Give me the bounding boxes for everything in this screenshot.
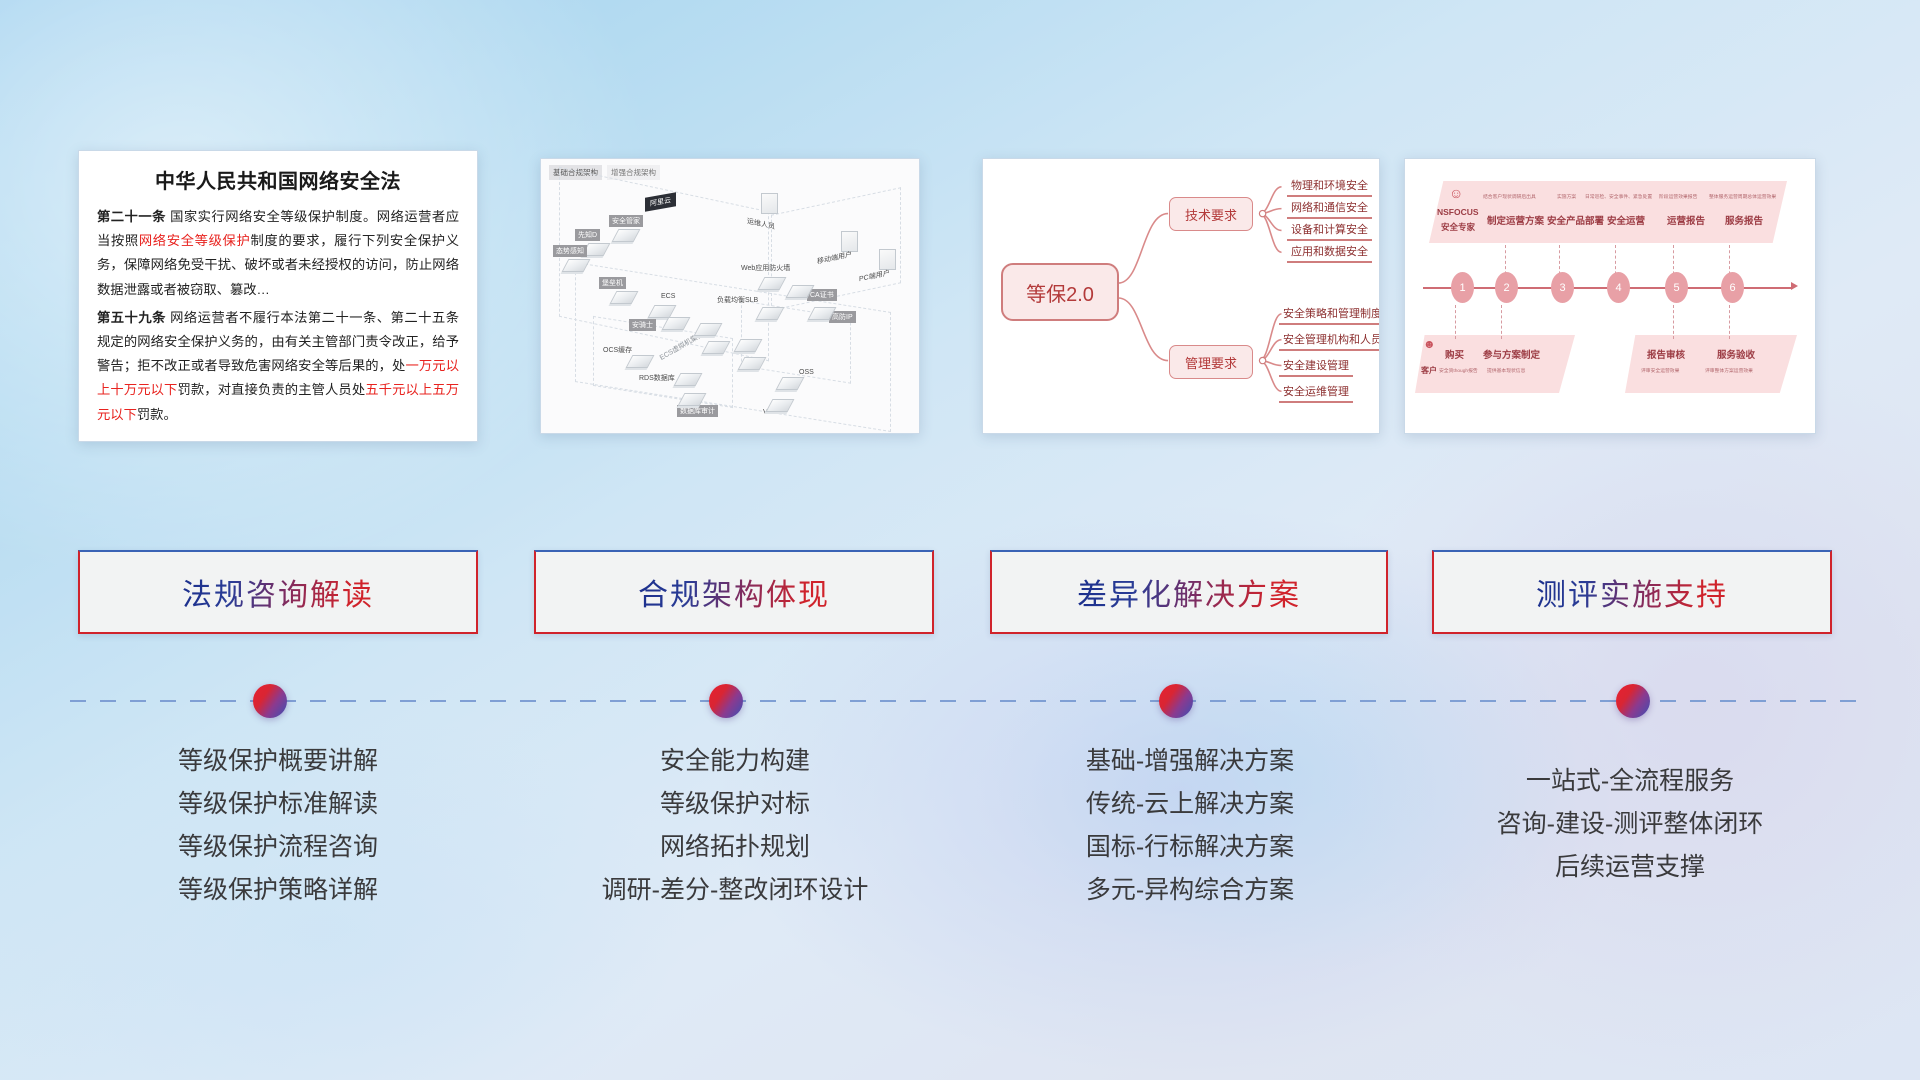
mindmap-leaf-app-data: 应用和数据安全: [1287, 243, 1372, 263]
connector-customer-5: [1673, 305, 1674, 339]
detail-column-2: 安全能力构建 等级保护对标 网络拓扑规划 调研-差分-整改闭环设计: [500, 740, 970, 912]
timeline-canvas: ☺ NSFOCUS 安全专家 结合客户现状调研后出具 制定运营方案 实施方案 安…: [1405, 159, 1815, 433]
law-title: 中华人民共和国网络安全法: [97, 165, 459, 194]
header-box-differentiated-solution[interactable]: 差异化解决方案: [990, 550, 1388, 634]
slide-stage: 中华人民共和国网络安全法 第二十一条 国家实行网络安全等级保护制度。网络运营者应…: [0, 0, 1920, 1080]
timeline-node-6[interactable]: 6: [1721, 272, 1744, 303]
arch-label-ca: CA证书: [807, 289, 837, 301]
list-item: 等级保护流程咨询: [78, 826, 478, 869]
progress-timeline-track: [70, 700, 1860, 702]
cards-row: 中华人民共和国网络安全法 第二十一条 国家实行网络安全等级保护制度。网络运营者应…: [0, 150, 1920, 450]
header-box-regulation-consulting[interactable]: 法规咨询解读: [78, 550, 478, 634]
expert-role-label: 安全专家: [1441, 221, 1475, 233]
mindmap-branch-management: 管理要求: [1169, 345, 1253, 379]
arch-node-slb: [759, 307, 781, 320]
timeline-arrow-icon: [1791, 282, 1798, 290]
card-architecture-diagram[interactable]: 基础合规架构 增强合规架构 阿里云 安全管家 先知D 态势感知 堡垒机: [540, 158, 920, 434]
arch-node-ecs-a: [697, 323, 719, 336]
timeline-node-3[interactable]: 3: [1551, 272, 1574, 303]
arch-node-situation-awareness: [565, 259, 587, 272]
law-article-21: 第二十一条 国家实行网络安全等级保护制度。网络运营者应当按照网络安全等级保护制度…: [97, 205, 459, 302]
mindmap-leaf-ops-mgmt: 安全运维管理: [1279, 383, 1353, 403]
law-article-59-label: 第五十九条: [97, 310, 166, 325]
mindmap-leaf-policy-system: 安全策略和管理制度: [1279, 305, 1380, 325]
architecture-canvas: 基础合规架构 增强合规架构 阿里云 安全管家 先知D 态势感知 堡垒机: [541, 159, 919, 433]
arch-label-db-audit: 数据库审计: [677, 405, 718, 417]
list-item: 咨询-建设-测评整体闭环: [1430, 803, 1830, 846]
customer-step-3-subtitle: 评审安全运营效果: [1641, 367, 1679, 374]
timeline-node-2[interactable]: 2: [1495, 272, 1518, 303]
header-label-2: 合规架构体现: [638, 570, 830, 614]
arch-node-db-audit: [681, 393, 703, 406]
law-article-59: 第五十九条 网络运营者不履行本法第二十一条、第二十五条规定的网络安全保护义务的，…: [97, 306, 459, 427]
arch-node-pc-user: [879, 249, 896, 270]
step-2-subtitle: 结合客户现状调研后出具: [1483, 193, 1536, 200]
step-5-title: 运营报告: [1667, 213, 1705, 227]
list-item: 调研-差分-整改闭环设计: [500, 869, 970, 912]
detail-column-4: 一站式-全流程服务 咨询-建设-测评整体闭环 后续运营支撑: [1430, 760, 1830, 889]
step-5-subtitle: 阶段运营效果报告: [1659, 193, 1697, 200]
step-2-title: 制定运营方案: [1487, 213, 1544, 227]
mindmap-leaf-org-personnel: 安全管理机构和人员: [1279, 331, 1380, 351]
timeline-node-5[interactable]: 5: [1665, 272, 1688, 303]
arch-label-xianzhi: 先知D: [575, 229, 600, 241]
mindmap-branch-technical: 技术要求: [1169, 197, 1253, 231]
arch-node-waf: [761, 277, 783, 290]
law-article-59-text-b: 罚款，对直接负责的主管人员处: [177, 382, 365, 397]
list-item: 等级保护概要讲解: [78, 740, 478, 783]
list-item: 网络拓扑规划: [500, 826, 970, 869]
step-6-title: 服务报告: [1725, 213, 1763, 227]
arch-label-situation-awareness: 态势感知: [553, 245, 587, 257]
timeline-node-1[interactable]: 1: [1451, 272, 1474, 303]
customer-label: 客户: [1421, 365, 1437, 376]
arch-node-security-steward: [615, 229, 637, 242]
step-4-title: 安全运营: [1607, 213, 1645, 227]
arch-label-waf: Web应用防火墙: [741, 263, 790, 273]
header-label-3: 差异化解决方案: [1077, 570, 1301, 614]
arch-node-vpc: [769, 399, 791, 412]
step-3-title: 安全产品部署: [1547, 213, 1604, 227]
card-service-timeline[interactable]: ☺ NSFOCUS 安全专家 结合客户现状调研后出具 制定运营方案 实施方案 安…: [1404, 158, 1816, 434]
card-mindmap[interactable]: 等保2.0 技术要求 物理和环境安全 网络和通信安全 设备和计算安全 应用和数据…: [982, 158, 1380, 434]
detail-column-3: 基础-增强解决方案 传统-云上解决方案 国标-行标解决方案 多元-异构综合方案: [980, 740, 1400, 912]
arch-label-rds: RDS数据库: [639, 373, 675, 383]
arch-node-ecs-c: [737, 339, 759, 352]
customer-step-3-title: 报告审核: [1647, 347, 1685, 361]
arch-node-ops-person: [761, 193, 778, 214]
list-item: 安全能力构建: [500, 740, 970, 783]
arch-node-ocs: [629, 355, 651, 368]
customer-step-4-subtitle: 评审整体方案运营效果: [1705, 367, 1753, 374]
arch-node-ecs-d: [741, 357, 763, 370]
timeline-customer-band-right: [1625, 335, 1797, 393]
mindmap-leaf-construction-mgmt: 安全建设管理: [1279, 357, 1353, 377]
timeline-marker-4[interactable]: [1616, 684, 1650, 718]
arch-label-anqishi: 安骑士: [629, 319, 656, 331]
step-4-subtitle: 日常巡检、安全事件、紧急处置: [1585, 193, 1652, 200]
customer-step-1-subtitle: 安全资though报告: [1439, 367, 1478, 374]
timeline-expert-band: [1429, 181, 1787, 243]
timeline-marker-2[interactable]: [709, 684, 743, 718]
customer-step-4-title: 服务验收: [1717, 347, 1755, 361]
mindmap-canvas: 等保2.0 技术要求 物理和环境安全 网络和通信安全 设备和计算安全 应用和数据…: [983, 159, 1379, 433]
header-box-compliance-architecture[interactable]: 合规架构体现: [534, 550, 934, 634]
arch-node-anti-ddos-ip: [811, 307, 833, 320]
law-article-59-text-c: 罚款。: [137, 407, 177, 422]
arch-node-oss: [779, 377, 801, 390]
list-item: 等级保护策略详解: [78, 869, 478, 912]
list-item: 一站式-全流程服务: [1430, 760, 1830, 803]
customer-step-1-title: 购买: [1445, 347, 1464, 361]
timeline-customer-band-left: [1415, 335, 1575, 393]
arch-label-ocs: OCS缓存: [603, 345, 632, 355]
arch-label-oss: OSS: [799, 369, 814, 376]
header-box-assessment-support[interactable]: 测评实施支持: [1432, 550, 1832, 634]
list-item: 等级保护标准解读: [78, 783, 478, 826]
arch-node-ecs-b: [705, 341, 727, 354]
list-item: 后续运营支撑: [1430, 846, 1830, 889]
expert-person-icon: ☺: [1449, 185, 1463, 201]
list-item: 传统-云上解决方案: [980, 783, 1400, 826]
list-item: 国标-行标解决方案: [980, 826, 1400, 869]
arch-node-bastion: [613, 291, 635, 304]
card-law-document[interactable]: 中华人民共和国网络安全法 第二十一条 国家实行网络安全等级保护制度。网络运营者应…: [78, 150, 478, 442]
arch-node-rds: [677, 373, 699, 386]
timeline-node-4[interactable]: 4: [1607, 272, 1630, 303]
law-article-21-label: 第二十一条: [97, 209, 166, 224]
arch-label-slb: 负载均衡SLB: [717, 295, 758, 305]
law-body: 中华人民共和国网络安全法 第二十一条 国家实行网络安全等级保护制度。网络运营者应…: [79, 151, 477, 441]
connector-customer-6: [1729, 305, 1730, 339]
mindmap-root: 等保2.0: [1001, 263, 1119, 321]
arch-label-security-steward: 安全管家: [609, 215, 643, 227]
step-3-subtitle: 实施方案: [1557, 193, 1576, 200]
mindmap-leaf-network-comm: 网络和通信安全: [1287, 199, 1372, 219]
arch-label-bastion: 堡垒机: [599, 277, 626, 289]
header-label-4: 测评实施支持: [1536, 570, 1728, 614]
timeline-marker-3[interactable]: [1159, 684, 1193, 718]
mindmap-leaf-physical-env: 物理和环境安全: [1287, 177, 1372, 197]
header-label-1: 法规咨询解读: [182, 570, 374, 614]
list-item: 等级保护对标: [500, 783, 970, 826]
list-item: 多元-异构综合方案: [980, 869, 1400, 912]
headers-row: 法规咨询解读 合规架构体现 差异化解决方案 测评实施支持: [0, 550, 1920, 650]
arch-node-ca: [789, 285, 811, 298]
mindmap-leaf-device-compute: 设备和计算安全: [1287, 221, 1372, 241]
customer-step-2-title: 参与方案制定: [1483, 347, 1540, 361]
expert-brand-label: NSFOCUS: [1437, 207, 1479, 217]
law-article-21-highlight: 网络安全等级保护: [139, 233, 251, 248]
arch-node-xianzhi: [585, 243, 607, 256]
arch-node-anqishi: [665, 317, 687, 330]
timeline-marker-1[interactable]: [253, 684, 287, 718]
step-6-subtitle: 整体服务运营周期总体运营效果: [1709, 193, 1776, 200]
list-item: 基础-增强解决方案: [980, 740, 1400, 783]
customer-person-icon: ☻: [1423, 337, 1436, 351]
connector-customer-1: [1455, 305, 1456, 339]
detail-column-1: 等级保护概要讲解 等级保护标准解读 等级保护流程咨询 等级保护策略详解: [78, 740, 478, 912]
connector-customer-2: [1501, 305, 1502, 339]
arch-label-ecs: ECS: [661, 293, 675, 300]
customer-step-2-subtitle: 提供基本现状信息: [1487, 367, 1525, 374]
